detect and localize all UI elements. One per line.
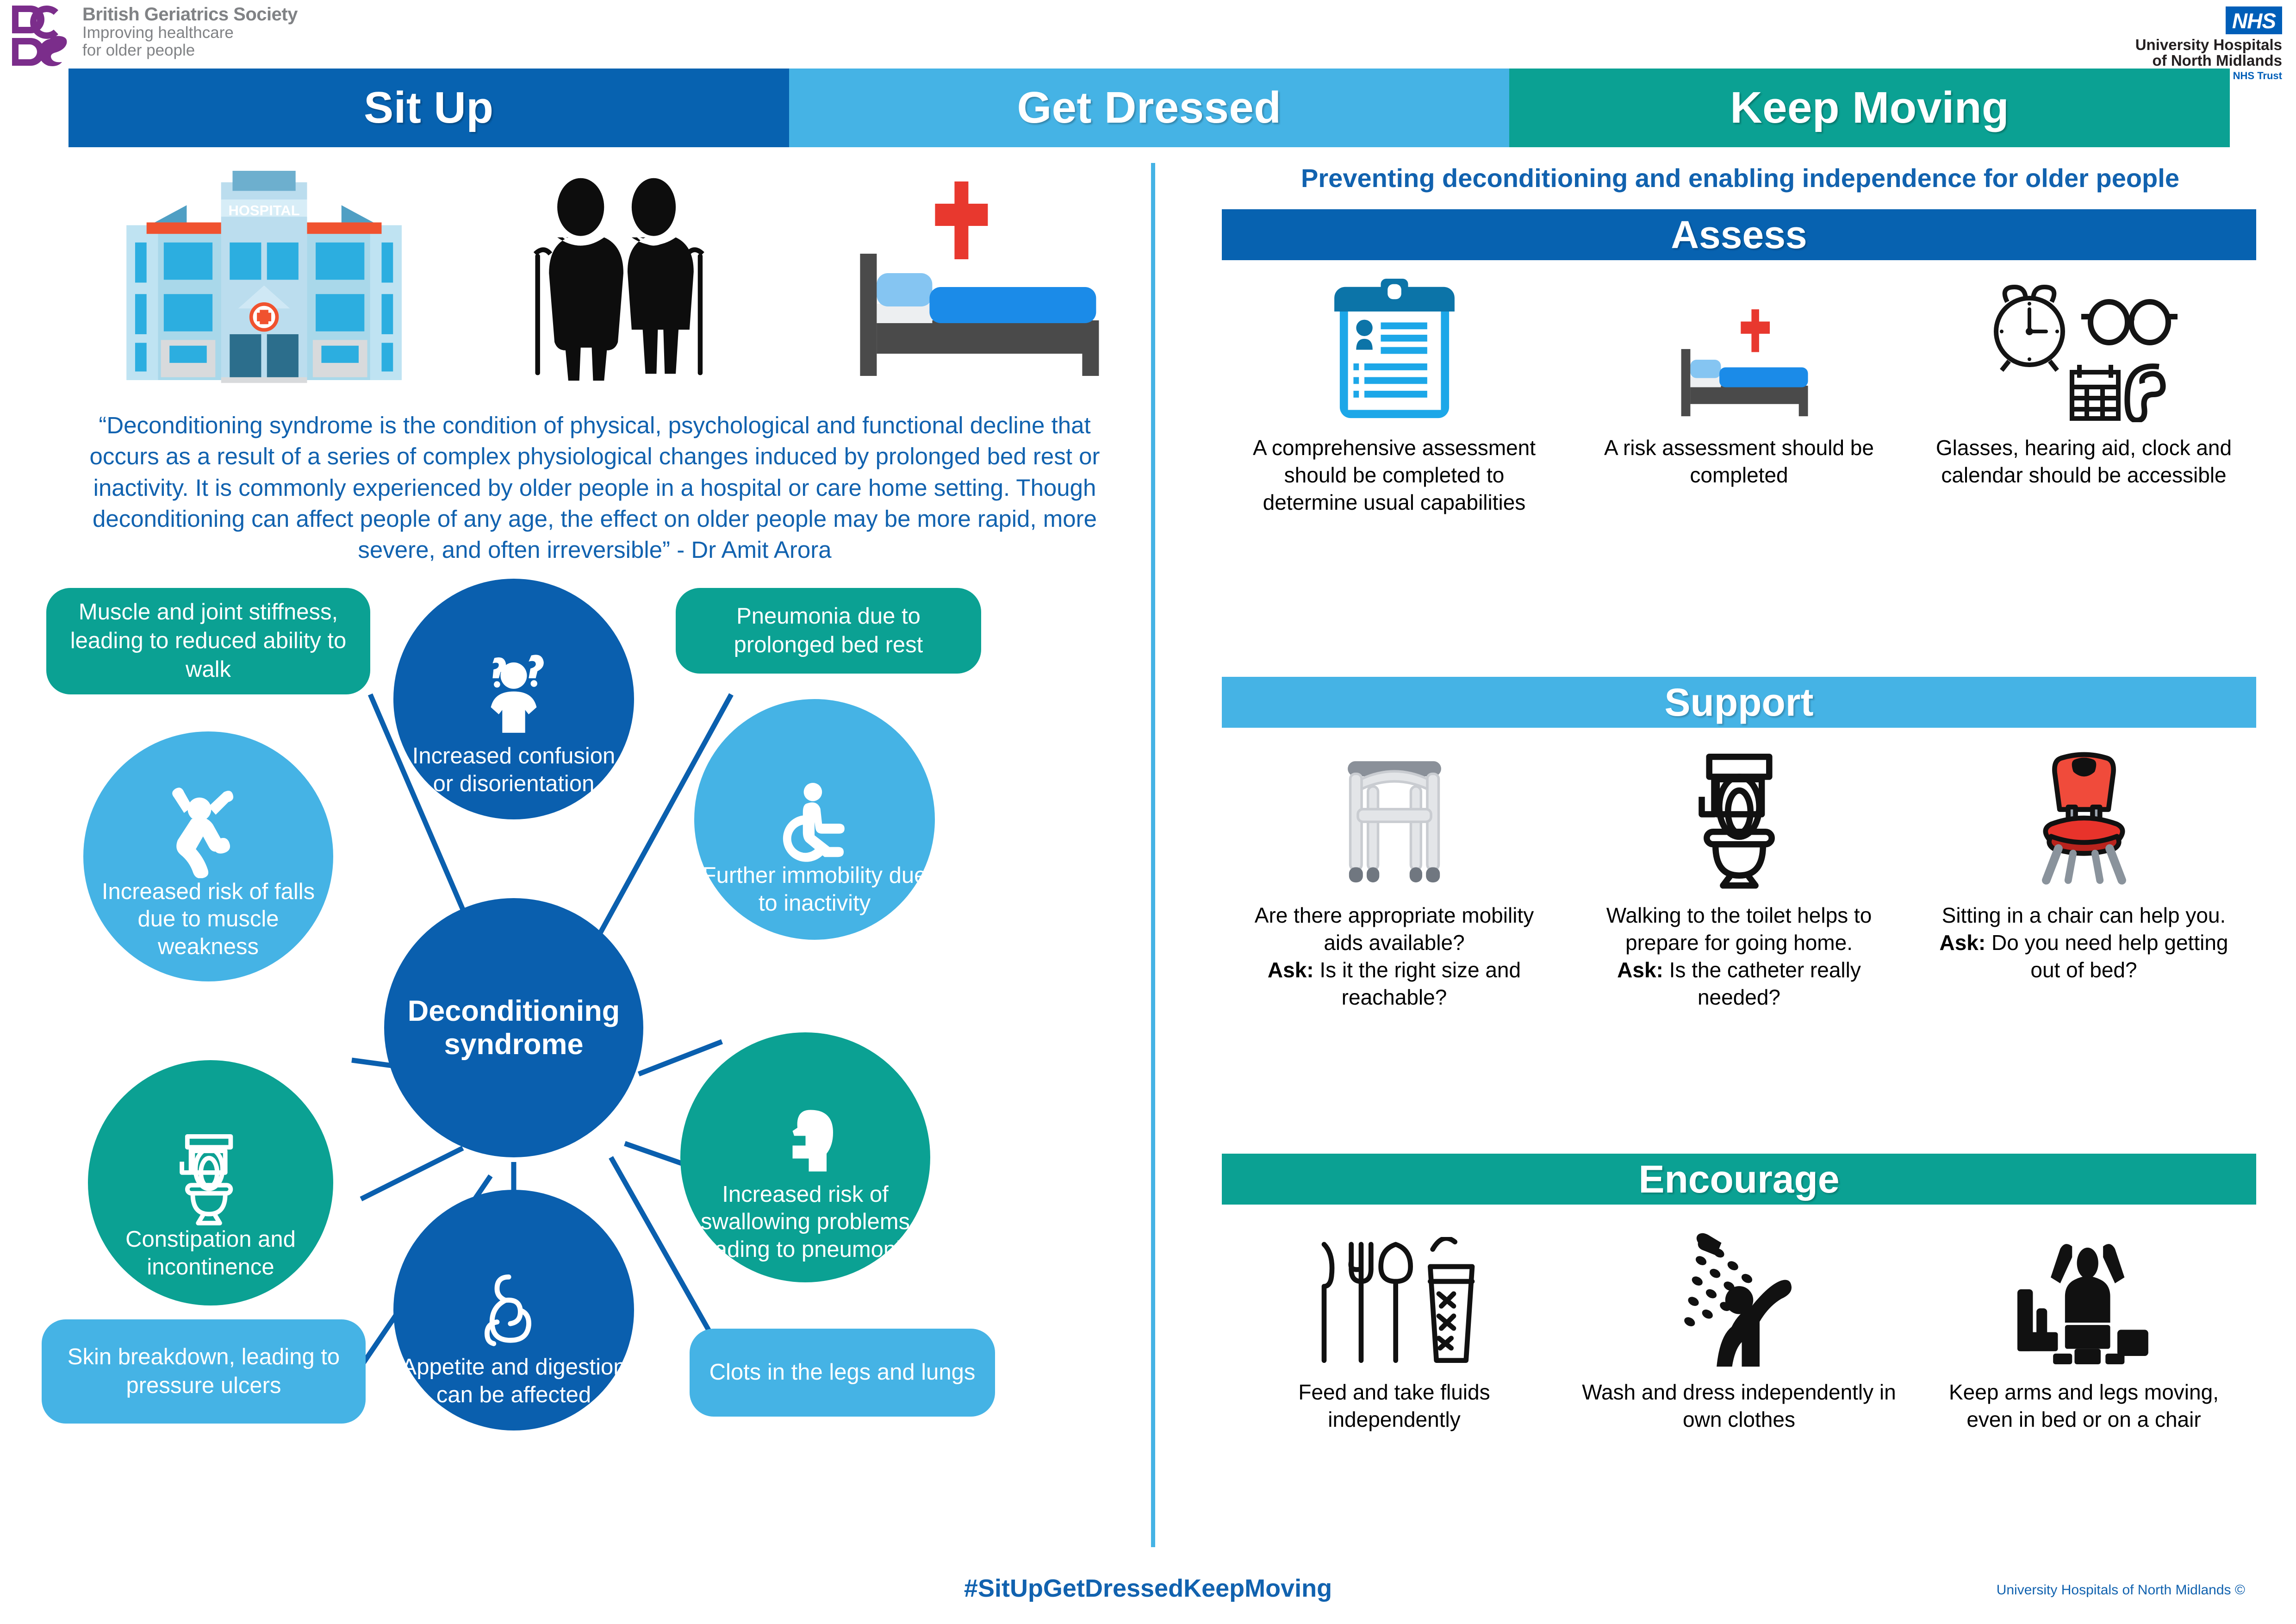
support-item-3-text: Sitting in a chair can help you. Ask: Do…: [1925, 902, 2242, 984]
node-muscle-joint-stiffness: Muscle and joint stiffness, leading to r…: [46, 588, 370, 694]
assess-item-3: Glasses, hearing aid, clock and calendar…: [1911, 269, 2256, 658]
bcs-tagline-2: for older people: [82, 42, 298, 59]
shower-person-icon: [1663, 1214, 1816, 1367]
toilet-icon: [166, 1131, 256, 1226]
band-label-sit-up: Sit Up: [364, 82, 493, 133]
header-band: Sit Up Get Dressed Keep Moving: [68, 69, 2230, 147]
node-increased-risk-falls: Increased risk of falls due to muscle we…: [83, 731, 333, 981]
section-items-assess: A comprehensive assessment should be com…: [1222, 269, 2256, 658]
node-clots-legs-lungs: Clots in the legs and lungs: [690, 1329, 995, 1417]
bcs-name: British Geriatrics Society: [82, 5, 298, 24]
support-item-3-line: Sitting in a chair can help you.: [1942, 903, 2226, 927]
footer-hashtag: #SitUpGetDressedKeepMoving: [0, 1574, 2296, 1603]
column-divider: [1151, 163, 1155, 1547]
elderly-couple-icon: [505, 176, 739, 384]
node-pneumonia-bed-rest: Pneumonia due to prolonged bed rest: [676, 588, 981, 674]
node-appetite-digestion: Appetite and digestion can be affected: [393, 1190, 634, 1430]
clipboard-assessment-icon: [1325, 269, 1464, 422]
support-item-3-ask-label: Ask:: [1939, 931, 1985, 955]
node-constipation-incontinence: Constipation and incontinence: [88, 1060, 333, 1305]
right-panel-title: Preventing deconditioning and enabling i…: [1185, 163, 2296, 193]
hub-deconditioning-syndrome: Deconditioning syndrome: [384, 898, 643, 1157]
node-label: Constipation and incontinence: [88, 1226, 333, 1281]
section-header-encourage: Encourage: [1222, 1154, 2256, 1205]
hub-label: Deconditioning syndrome: [384, 994, 643, 1062]
right-column: Preventing deconditioning and enabling i…: [1185, 163, 2296, 1549]
infographic-page: British Geriatrics Society Improving hea…: [0, 0, 2296, 1624]
support-item-3-ask: Do you need help getting out of bed?: [1985, 931, 2228, 982]
support-item-2-ask: Is the catheter really needed?: [1663, 958, 1861, 1009]
node-further-immobility: Further immobility due to inactivity: [694, 699, 935, 940]
hospital-building-icon: HOSPITAL: [106, 167, 422, 384]
bed-risk-icon: [1663, 269, 1816, 422]
support-item-2-ask-label: Ask:: [1617, 958, 1663, 982]
node-swallowing-problems: Increased risk of swallowing problems le…: [680, 1032, 930, 1282]
support-item-2: Walking to the toilet helps to prepare f…: [1567, 737, 1911, 1140]
band-get-dressed: Get Dressed: [789, 69, 1510, 147]
nhs-trust-line-1: University Hospitals: [2135, 37, 2282, 53]
nhs-trust-name: University Hospitals of North Midlands: [2135, 37, 2282, 69]
walking-frame-icon: [1325, 737, 1464, 890]
falling-person-icon: [159, 786, 258, 878]
band-keep-moving: Keep Moving: [1509, 69, 2230, 147]
clock-glasses-calendar-ear-icon: [1987, 269, 2181, 422]
left-column: HOSPITAL: [0, 157, 1143, 1551]
person-arms-up-bed-icon: [2001, 1214, 2167, 1367]
encourage-item-2: Wash and dress independently in own clot…: [1567, 1214, 1911, 1575]
node-label: Clots in the legs and lungs: [699, 1358, 986, 1387]
section-header-assess: Assess: [1222, 209, 2256, 260]
assess-item-3-text: Glasses, hearing aid, clock and calendar…: [1925, 434, 2242, 489]
encourage-item-2-text: Wash and dress independently in own clot…: [1580, 1379, 1898, 1433]
encourage-item-3-text: Keep arms and legs moving, even in bed o…: [1925, 1379, 2242, 1433]
bcs-monogram-icon: [4, 2, 78, 71]
band-label-get-dressed: Get Dressed: [1017, 82, 1281, 133]
assess-item-2: A risk assessment should be completed: [1567, 269, 1911, 658]
support-item-1-line: Are there appropriate mobility aids avai…: [1255, 903, 1534, 955]
wheelchair-icon: [773, 779, 856, 862]
bcs-tagline-1: Improving healthcare: [82, 24, 298, 42]
assess-item-2-text: A risk assessment should be completed: [1580, 434, 1898, 489]
node-label: Increased risk of falls due to muscle we…: [83, 878, 333, 961]
hospital-bed-icon: [827, 176, 1115, 384]
confused-person-icon: [470, 653, 558, 741]
cutlery-drink-icon: [1313, 1214, 1475, 1367]
stomach-icon: [472, 1270, 555, 1354]
encourage-item-1: Feed and take fluids independently: [1222, 1214, 1567, 1575]
bcs-wordmark: British Geriatrics Society Improving hea…: [82, 2, 298, 59]
section-header-support: Support: [1222, 677, 2256, 728]
node-label: Increased confusion or disorientation: [393, 743, 634, 798]
nhs-mark: NHS: [2226, 6, 2282, 34]
nhs-trust-line-2: of North Midlands: [2135, 53, 2282, 69]
support-item-1: Are there appropriate mobility aids avai…: [1222, 737, 1567, 1140]
support-item-2-text: Walking to the toilet helps to prepare f…: [1580, 902, 1898, 1011]
band-label-keep-moving: Keep Moving: [1730, 82, 2009, 133]
node-skin-breakdown: Skin breakdown, leading to pressure ulce…: [42, 1319, 366, 1424]
assess-item-1: A comprehensive assessment should be com…: [1222, 269, 1567, 658]
node-label: Muscle and joint stiffness, leading to r…: [46, 598, 370, 684]
toilet-icon: [1677, 737, 1802, 890]
node-increased-confusion: Increased confusion or disorientation: [393, 579, 634, 819]
node-label: Further immobility due to inactivity: [694, 862, 935, 918]
bcs-logo: British Geriatrics Society Improving hea…: [4, 2, 300, 71]
section-label-assess: Assess: [1671, 212, 1807, 257]
top-illustrations: HOSPITAL: [83, 167, 1115, 384]
head-swallow-icon: [765, 1108, 846, 1189]
node-label: Pneumonia due to prolonged bed rest: [676, 602, 981, 659]
support-item-1-ask: Is it the right size and reachable?: [1314, 958, 1521, 1009]
footer-copyright: University Hospitals of North Midlands ©: [1997, 1582, 2245, 1598]
encourage-item-1-text: Feed and take fluids independently: [1236, 1379, 1553, 1433]
section-label-support: Support: [1665, 680, 1814, 725]
assess-item-1-text: A comprehensive assessment should be com…: [1236, 434, 1553, 516]
svg-text:HOSPITAL: HOSPITAL: [228, 202, 299, 219]
node-label: Increased risk of swallowing problems le…: [680, 1181, 930, 1264]
node-label: Skin breakdown, leading to pressure ulce…: [42, 1343, 366, 1400]
support-item-2-line: Walking to the toilet helps to prepare f…: [1606, 903, 1872, 955]
section-label-encourage: Encourage: [1638, 1157, 1839, 1202]
section-items-encourage: Feed and take fluids independently: [1222, 1214, 2256, 1575]
deconditioning-diagram: Muscle and joint stiffness, leading to r…: [28, 495, 1139, 1551]
support-item-1-ask-label: Ask:: [1268, 958, 1314, 982]
band-sit-up: Sit Up: [68, 69, 789, 147]
support-item-1-text: Are there appropriate mobility aids avai…: [1236, 902, 1553, 1011]
support-item-3: Sitting in a chair can help you. Ask: Do…: [1911, 737, 2256, 1140]
node-label: Appetite and digestion can be affected: [393, 1354, 634, 1409]
red-chair-icon: [2017, 737, 2151, 890]
section-items-support: Are there appropriate mobility aids avai…: [1222, 737, 2256, 1140]
encourage-item-3: Keep arms and legs moving, even in bed o…: [1911, 1214, 2256, 1575]
